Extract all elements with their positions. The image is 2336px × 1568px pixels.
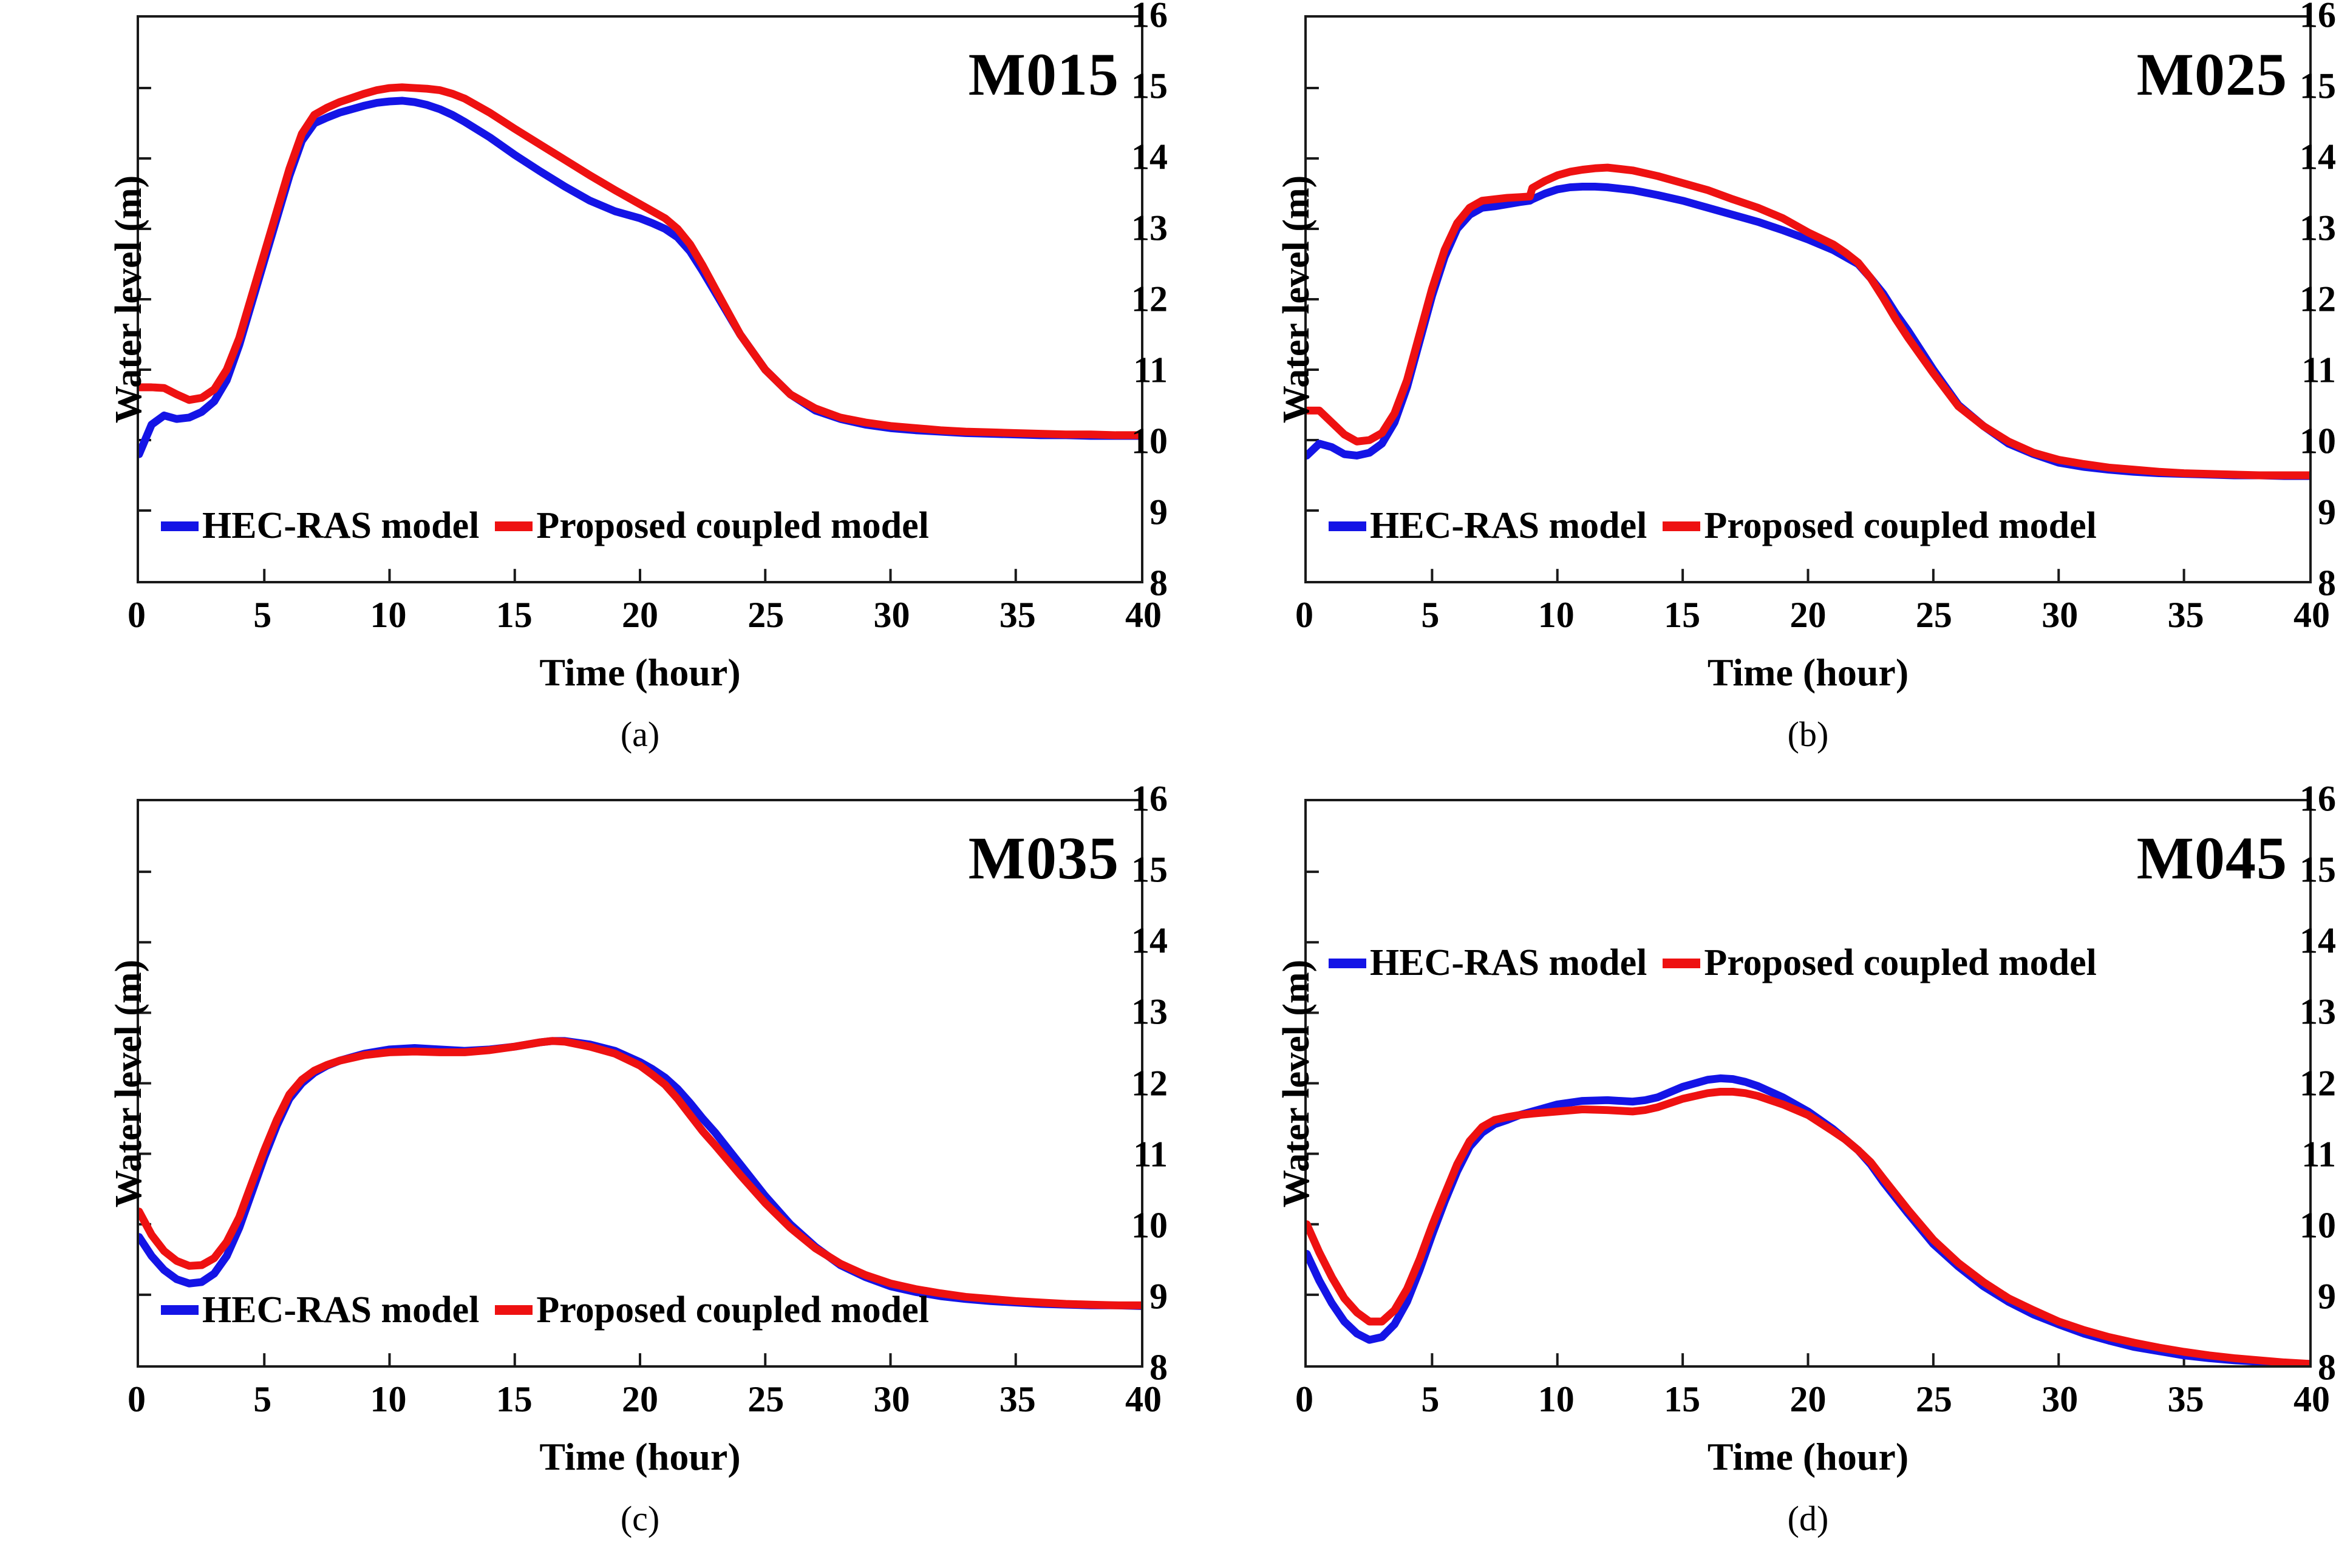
series-line-proposed [1307,1091,2309,1363]
x-tick-label: 0 [128,594,146,636]
x-tick-label: 40 [2293,1379,2330,1420]
panel-station-title: M035 [969,823,1119,893]
panel-c: 89101112131415160510152025303540Water le… [0,784,1168,1568]
y-axis-label: Water level (m) [1275,175,1318,424]
y-tick-label: 14 [1048,137,1168,178]
y-tick-label: 9 [1048,492,1168,534]
panel-station-title: M015 [969,39,1119,109]
x-tick-label: 40 [2293,594,2330,636]
series-line-proposed [1307,168,2309,475]
y-tick-label: 12 [2216,1062,2336,1104]
x-tick-label: 10 [1538,1379,1575,1420]
x-tick-label: 0 [128,1379,146,1420]
x-tick-label: 30 [2041,594,2078,636]
y-tick-label: 10 [2216,421,2336,463]
x-tick-label: 25 [1916,1379,1952,1420]
x-tick-label: 25 [747,594,784,636]
x-tick-label: 15 [496,594,533,636]
y-tick-label: 9 [2216,492,2336,534]
chart-legend: HEC-RAS modelProposed coupled model [161,1289,929,1332]
series-line-proposed [139,87,1141,435]
panel-inner: 89101112131415160510152025303540Water le… [0,784,1168,1568]
y-tick-label: 13 [1048,991,1168,1033]
x-tick-label: 30 [2041,1379,2078,1420]
legend-swatch-blue-line-icon [161,521,199,531]
panel-station-title: M045 [2137,823,2287,893]
x-tick-label: 5 [253,594,271,636]
panel-subcaption: (c) [137,1498,1143,1539]
x-tick-label: 15 [1664,1379,1700,1420]
legend-label: Proposed coupled model [1704,942,2096,985]
series-line-hec-ras [1307,1078,2309,1363]
y-tick-label: 9 [1048,1275,1168,1317]
x-tick-label: 35 [2168,1379,2204,1420]
series-line-proposed [139,1041,1141,1305]
x-tick-label: 10 [370,594,407,636]
legend-item-hec-ras[interactable]: HEC-RAS model [161,1289,479,1332]
x-tick-label: 0 [1295,594,1313,636]
panel-station-title: M025 [2137,39,2287,109]
y-tick-label: 16 [1048,778,1168,820]
legend-swatch-red-line-icon [1663,521,1700,531]
y-tick-label: 11 [1048,350,1168,392]
panel-b: 89101112131415160510152025303540Water le… [1168,0,2336,784]
x-tick-label: 5 [1421,1379,1439,1420]
x-tick-label: 15 [1664,594,1700,636]
y-tick-label: 10 [1048,1204,1168,1246]
y-tick-label: 14 [1048,920,1168,962]
y-tick-label: 10 [2216,1204,2336,1246]
y-tick-label: 13 [2216,208,2336,249]
legend-label: HEC-RAS model [202,1289,479,1332]
x-axis-label: Time (hour) [1304,650,2312,695]
y-tick-label: 16 [1048,0,1168,36]
x-tick-label: 30 [874,594,910,636]
y-tick-label: 12 [1048,279,1168,321]
panel-inner: 89101112131415160510152025303540Water le… [0,0,1168,784]
panel-subcaption: (a) [137,714,1143,755]
series-line-hec-ras [139,101,1141,454]
panel-subcaption: (d) [1304,1498,2312,1539]
y-tick-label: 9 [2216,1275,2336,1317]
legend-swatch-blue-line-icon [1329,959,1366,968]
x-tick-label: 30 [874,1379,910,1420]
legend-label: HEC-RAS model [202,504,479,548]
x-tick-label: 5 [253,1379,271,1420]
legend-item-hec-ras[interactable]: HEC-RAS model [1329,504,1647,548]
x-tick-label: 0 [1295,1379,1313,1420]
legend-swatch-red-line-icon [495,521,533,531]
x-axis-label: Time (hour) [1304,1434,2312,1479]
x-tick-label: 20 [1790,1379,1827,1420]
legend-swatch-blue-line-icon [1329,521,1366,531]
y-axis-label: Water level (m) [107,959,151,1207]
y-tick-label: 14 [2216,137,2336,178]
y-tick-label: 11 [2216,1133,2336,1175]
y-tick-label: 11 [2216,350,2336,392]
series-line-hec-ras [139,1041,1141,1306]
x-axis-label: Time (hour) [137,1434,1143,1479]
x-tick-label: 20 [1790,594,1827,636]
panel-inner: 89101112131415160510152025303540Water le… [1168,784,2336,1568]
panel-d: 89101112131415160510152025303540Water le… [1168,784,2336,1568]
legend-item-proposed[interactable]: Proposed coupled model [495,504,928,548]
y-tick-label: 16 [2216,778,2336,820]
chart-legend: HEC-RAS modelProposed coupled model [161,504,929,548]
legend-swatch-red-line-icon [495,1305,533,1315]
legend-label: HEC-RAS model [1370,942,1647,985]
figure-grid: 89101112131415160510152025303540Water le… [0,0,2336,1568]
x-tick-label: 10 [370,1379,407,1420]
chart-legend: HEC-RAS modelProposed coupled model [1329,942,2097,985]
x-tick-label: 5 [1421,594,1439,636]
legend-item-hec-ras[interactable]: HEC-RAS model [1329,942,1647,985]
x-tick-label: 20 [622,1379,658,1420]
y-tick-label: 13 [2216,991,2336,1033]
x-tick-label: 35 [2168,594,2204,636]
legend-swatch-blue-line-icon [161,1305,199,1315]
x-axis-label: Time (hour) [137,650,1143,695]
y-tick-label: 10 [1048,421,1168,463]
x-tick-label: 40 [1125,594,1162,636]
chart-legend: HEC-RAS modelProposed coupled model [1329,504,2097,548]
x-tick-label: 10 [1538,594,1575,636]
x-tick-label: 35 [999,594,1036,636]
legend-item-hec-ras[interactable]: HEC-RAS model [161,504,479,548]
legend-label: Proposed coupled model [536,1289,928,1332]
x-tick-label: 25 [747,1379,784,1420]
y-axis-label: Water level (m) [1275,959,1318,1207]
x-tick-label: 15 [496,1379,533,1420]
legend-item-proposed[interactable]: Proposed coupled model [495,1289,928,1332]
y-tick-label: 11 [1048,1133,1168,1175]
panel-a: 89101112131415160510152025303540Water le… [0,0,1168,784]
x-tick-label: 25 [1916,594,1952,636]
legend-item-proposed[interactable]: Proposed coupled model [1663,942,2096,985]
y-tick-label: 16 [2216,0,2336,36]
y-tick-label: 12 [2216,279,2336,321]
y-axis-label: Water level (m) [107,175,151,424]
legend-swatch-red-line-icon [1663,959,1700,968]
panel-subcaption: (b) [1304,714,2312,755]
legend-label: Proposed coupled model [1704,504,2096,548]
x-tick-label: 20 [622,594,658,636]
legend-label: Proposed coupled model [536,504,928,548]
legend-label: HEC-RAS model [1370,504,1647,548]
y-tick-label: 14 [2216,920,2336,962]
x-tick-label: 35 [999,1379,1036,1420]
legend-item-proposed[interactable]: Proposed coupled model [1663,504,2096,548]
y-tick-label: 13 [1048,208,1168,249]
y-tick-label: 12 [1048,1062,1168,1104]
x-tick-label: 40 [1125,1379,1162,1420]
panel-inner: 89101112131415160510152025303540Water le… [1168,0,2336,784]
